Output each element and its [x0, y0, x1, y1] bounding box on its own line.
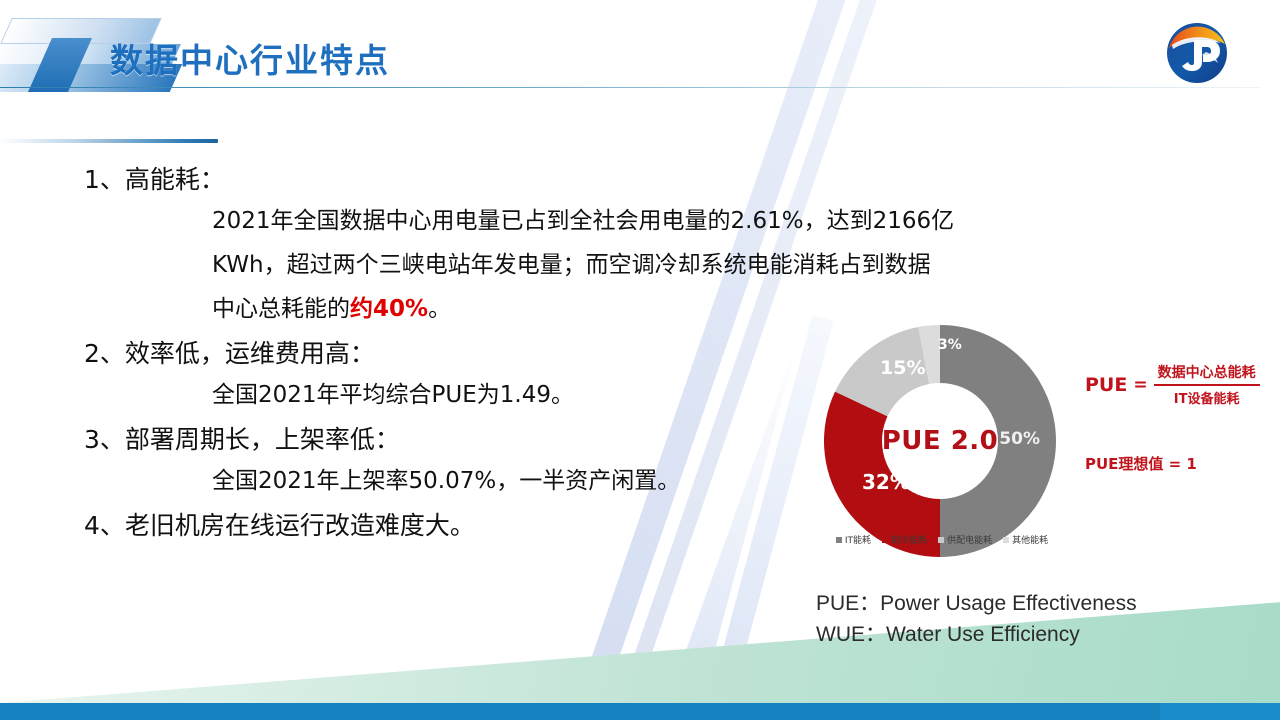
legend-swatch-icon [938, 537, 944, 543]
legend-label: IT能耗 [845, 533, 871, 546]
donut-center-label: PUE 2.0 [882, 426, 999, 456]
donut-label-power: 15% [880, 357, 925, 379]
donut-label-cooling: 32% [862, 470, 910, 494]
formula-denominator: IT设备能耗 [1170, 386, 1244, 407]
bullet-item-4: 4、老旧机房在线运行改造难度大。 [0, 506, 800, 546]
slide-root: 数据中心行业特点 [0, 0, 1280, 720]
bullet-1-highlight: 约40% [350, 296, 428, 322]
legend-swatch-icon [882, 537, 888, 543]
bullet-1-line-3: 中心总耗能的约40%。 [212, 290, 800, 328]
acronym-notes: PUE：Power Usage Effectiveness WUE：Water … [816, 588, 1137, 650]
legend-label: 制冷能耗 [891, 533, 927, 546]
bullet-1-line-3-prefix: 中心总耗能的 [212, 296, 350, 322]
bullet-4-heading: 4、老旧机房在线运行改造难度大。 [84, 506, 800, 546]
formula-row: PUE = 数据中心总能耗 IT设备能耗 [1085, 362, 1275, 407]
legend-swatch-icon [1003, 537, 1009, 543]
page-title: 数据中心行业特点 [110, 34, 390, 82]
bullet-item-2: 2、效率低，运维费用高： 全国2021年平均综合PUE为1.49。 [0, 334, 800, 414]
formula-ideal-value: PUE理想值 = 1 [1085, 453, 1275, 474]
formula-pue-label: PUE [1085, 374, 1127, 396]
chart-legend: IT能耗制冷能耗供配电能耗其他能耗 [808, 533, 1076, 546]
formula-fraction: 数据中心总能耗 IT设备能耗 [1154, 362, 1260, 407]
formula-numerator: 数据中心总能耗 [1154, 362, 1260, 384]
bullet-2-heading: 2、效率低，运维费用高： [84, 334, 800, 374]
legend-label: 其他能耗 [1012, 533, 1048, 546]
legend-item-3: 其他能耗 [1003, 533, 1048, 546]
legend-item-1: 制冷能耗 [882, 533, 927, 546]
pue-donut-chart: PUE 2.0 50% 32% 15% 3% IT能耗制冷能耗供配电能耗其他能耗 [808, 325, 1076, 565]
bottom-blue-bar [0, 703, 1280, 720]
formula-equals-sign: = [1133, 375, 1147, 395]
bullet-item-3: 3、部署周期长，上架率低： 全国2021年上架率50.07%，一半资产闲置。 [0, 420, 800, 500]
bullet-1-line-2: KWh，超过两个三峡电站年发电量；而空调冷却系统电能消耗占到数据 [212, 246, 800, 284]
legend-label: 供配电能耗 [947, 533, 992, 546]
pue-formula: PUE = 数据中心总能耗 IT设备能耗 PUE理想值 = 1 [1085, 362, 1275, 474]
bullet-1-line-3-suffix: 。 [428, 296, 451, 322]
bullet-3-line-1: 全国2021年上架率50.07%，一半资产闲置。 [212, 462, 800, 500]
header-divider-line [0, 87, 1260, 88]
bullet-3-heading: 3、部署周期长，上架率低： [84, 420, 800, 460]
note-pue: PUE：Power Usage Effectiveness [816, 588, 1137, 619]
legend-item-0: IT能耗 [836, 533, 871, 546]
legend-item-2: 供配电能耗 [938, 533, 992, 546]
bullet-list: 1、高能耗： 2021年全国数据中心用电量已占到全社会用电量的2.61%，达到2… [0, 160, 800, 548]
note-wue: WUE：Water Use Efficiency [816, 619, 1137, 650]
donut-label-other: 3% [938, 337, 962, 353]
jp-circle-logo [1166, 22, 1228, 84]
donut-label-it: 50% [999, 429, 1040, 449]
bullet-1-heading: 1、高能耗： [84, 160, 800, 200]
legend-swatch-icon [836, 537, 842, 543]
bullet-2-line-1: 全国2021年平均综合PUE为1.49。 [212, 376, 800, 414]
bullet-item-1: 1、高能耗： 2021年全国数据中心用电量已占到全社会用电量的2.61%，达到2… [0, 160, 800, 328]
title-accent-line [0, 139, 218, 143]
bullet-1-line-1: 2021年全国数据中心用电量已占到全社会用电量的2.61%，达到2166亿 [212, 202, 800, 240]
